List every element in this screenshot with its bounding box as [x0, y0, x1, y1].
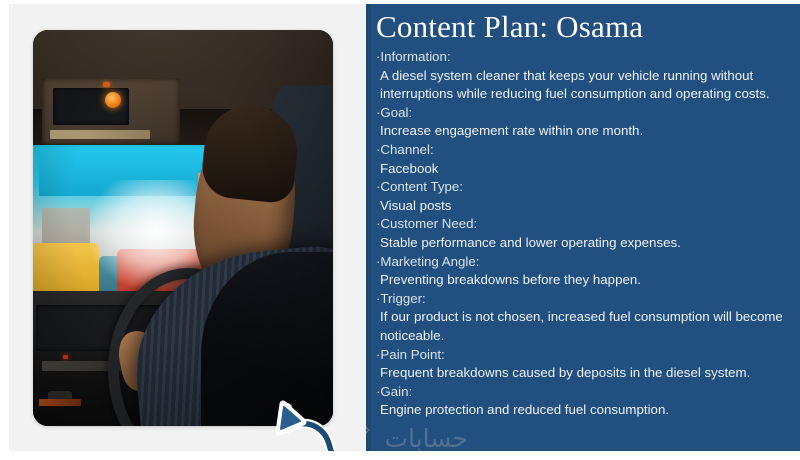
plan-field-channel: ·Channel: Facebook	[376, 141, 790, 178]
driver-photo	[33, 30, 333, 426]
plan-field-pain-point: ·Pain Point: Frequent breakdowns caused …	[376, 346, 790, 383]
field-label: ·Information:	[376, 48, 790, 67]
plan-field-content-type: ·Content Type: Visual posts	[376, 178, 790, 215]
field-value: If our product is not chosen, increased …	[376, 308, 790, 345]
field-value: Increase engagement rate within one mont…	[376, 122, 790, 141]
photo-canvas	[33, 30, 333, 426]
plan-field-trigger: ·Trigger: If our product is not chosen, …	[376, 290, 790, 346]
panel-left-edge	[366, 4, 371, 451]
plan-field-gain: ·Gain: Engine protection and reduced fue…	[376, 383, 790, 420]
content-panel: Content Plan: Osama ·Information: A dies…	[366, 4, 800, 451]
field-label: ·Trigger:	[376, 290, 790, 309]
field-value: Visual posts	[376, 197, 790, 216]
content-plan-list: ·Information: A diesel system cleaner th…	[376, 48, 790, 420]
plan-field-customer-need: ·Customer Need: Stable performance and l…	[376, 215, 790, 252]
photo-dash-indicator	[63, 355, 68, 359]
plan-field-information: ·Information: A diesel system cleaner th…	[376, 48, 790, 104]
field-label: ·Goal:	[376, 104, 790, 123]
media-panel	[0, 4, 366, 451]
field-label: ·Channel:	[376, 141, 790, 160]
plan-field-goal: ·Goal: Increase engagement rate within o…	[376, 104, 790, 141]
field-value: Facebook	[376, 160, 790, 179]
photo-dash-orange-strip	[39, 399, 81, 406]
field-label: ·Customer Need:	[376, 215, 790, 234]
field-value: Preventing breakdowns before they happen…	[376, 271, 790, 290]
plan-field-marketing-angle: ·Marketing Angle: Preventing breakdowns …	[376, 253, 790, 290]
field-value: Stable performance and lower operating e…	[376, 234, 790, 253]
photo-amber-indicator-small	[103, 82, 110, 87]
field-label: ·Content Type:	[376, 178, 790, 197]
field-label: ·Marketing Angle:	[376, 253, 790, 272]
field-value: Frequent breakdowns caused by deposits i…	[376, 364, 790, 383]
presentation-slide: Content Plan: Osama ·Information: A dies…	[0, 0, 800, 460]
field-value: Engine protection and reduced fuel consu…	[376, 401, 790, 420]
field-label: ·Gain:	[376, 383, 790, 402]
photo-console-strip	[50, 130, 149, 139]
field-label: ·Pain Point:	[376, 346, 790, 365]
page-title: Content Plan: Osama	[376, 8, 790, 46]
photo-overhead-console	[42, 78, 180, 145]
field-value: A diesel system cleaner that keeps your …	[376, 67, 790, 104]
